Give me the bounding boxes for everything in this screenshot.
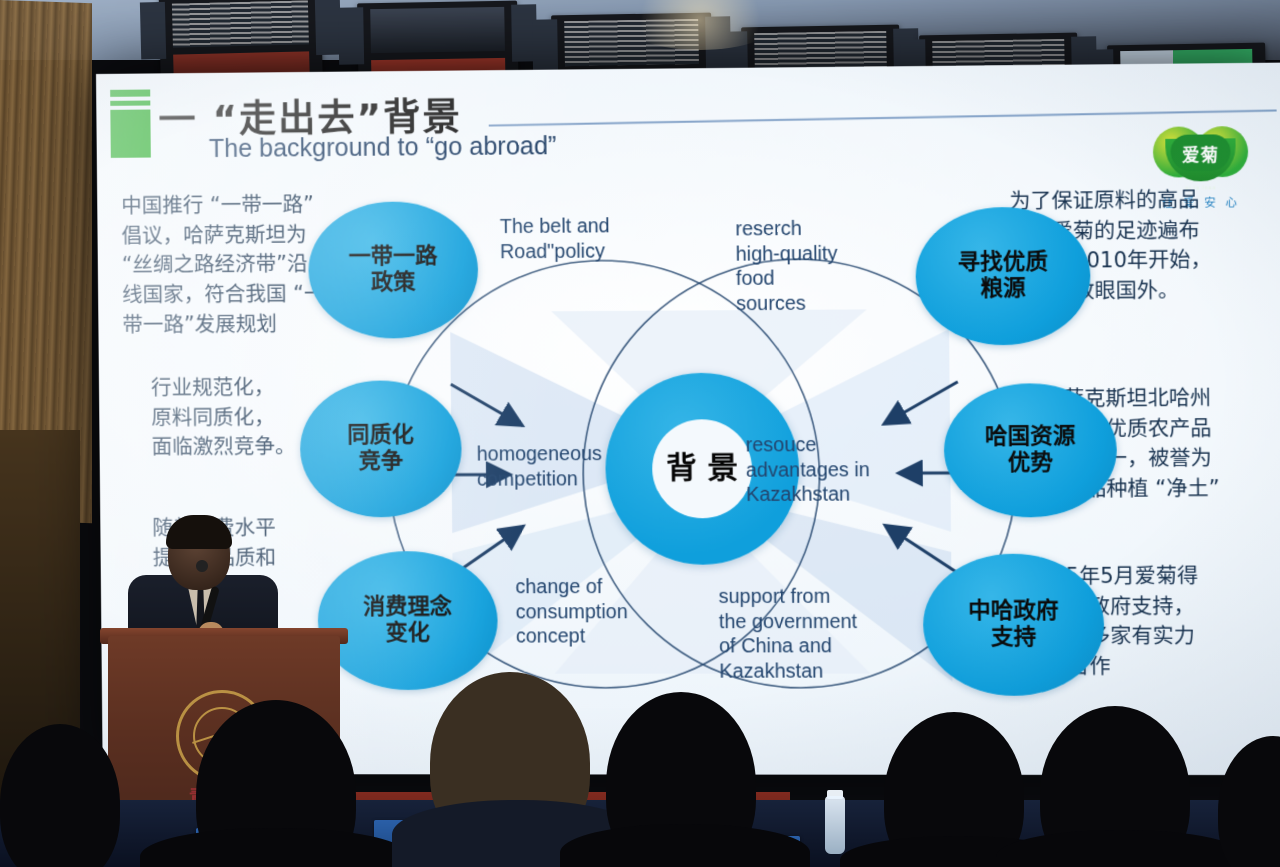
- logo-brand-cn: 爱菊: [1182, 140, 1219, 166]
- annotation-research-food-sources: reserch high-quality food sources: [735, 216, 899, 316]
- title-rule-divider: [489, 109, 1277, 126]
- annotation-belt-road-policy: The belt and Road"policy: [500, 214, 693, 265]
- slide-title-en: The background to “go abroad”: [209, 132, 557, 164]
- node-label-cn: 一带一路 政策: [349, 244, 438, 297]
- water-bottle: [825, 796, 845, 854]
- annotation-kazakhstan-resource: resouce advantages in Kazakhstan: [746, 433, 937, 508]
- booth-side-wing: [139, 2, 166, 60]
- node-belt-road-policy[interactable]: 一带一路 政策: [308, 201, 479, 339]
- heart-logo-icon: 爱菊: [1153, 126, 1249, 186]
- node-china-kazakhstan-gov-support[interactable]: 中哈政府 支持: [923, 554, 1105, 696]
- center-label-cn: 背 景: [651, 419, 753, 519]
- booth-side-wing: [338, 7, 365, 65]
- node-consumption-concept-change[interactable]: 消费理念 变化: [317, 551, 498, 690]
- booth-window: [370, 7, 505, 53]
- microphone-head-icon: [196, 560, 208, 572]
- conference-room-photo: 一 “走出去”背景 The background to “go abroad” …: [0, 0, 1280, 867]
- annotation-homogeneous-competition: homogeneous competition: [477, 442, 660, 492]
- node-homogeneous-competition[interactable]: 同质化 竞争: [300, 380, 463, 517]
- node-label-cn: 寻找优质 粮源: [957, 250, 1048, 303]
- background-factors-diagram: 一带一路 政策 同质化 竞争 消费理念 变化 寻找优质 粮源 哈国资源 优势 中…: [298, 196, 1107, 744]
- annotation-government-support: support from the government of China and…: [718, 584, 929, 684]
- node-label-cn: 同质化 竞争: [347, 423, 414, 475]
- node-label-cn: 中哈政府 支持: [968, 598, 1059, 651]
- booth-window: [172, 1, 309, 48]
- node-search-quality-grain[interactable]: 寻找优质 粮源: [915, 207, 1091, 346]
- node-kazakhstan-resource-advantage[interactable]: 哈国资源 优势: [943, 383, 1117, 518]
- green-accent-bars-icon: [110, 89, 151, 157]
- node-label-cn: 哈国资源 优势: [985, 424, 1076, 477]
- annotation-consumption-concept-change: change of consumption concept: [515, 575, 698, 650]
- node-label-cn: 消费理念 变化: [363, 594, 452, 646]
